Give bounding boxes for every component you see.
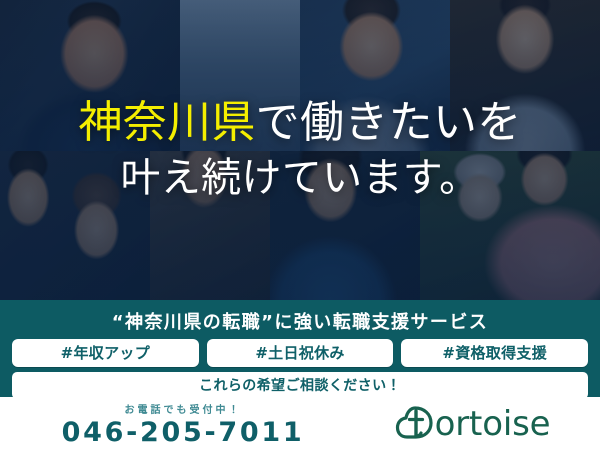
tortoise-shell-t-icon	[394, 402, 438, 447]
photo-driver-man	[0, 0, 180, 151]
photo-collage	[0, 0, 600, 302]
pill-weekend-holiday[interactable]: #土日祝休み	[207, 339, 394, 367]
photo-store-shelf	[180, 0, 300, 151]
photo-factory-woman	[270, 151, 420, 302]
photo-clipboard-woman	[450, 0, 600, 151]
brand-wordmark: ortoise	[435, 404, 551, 444]
telephone-block[interactable]: お電話でも受付中！ 046-205-7011	[0, 401, 358, 448]
pill-salary-up[interactable]: #年収アップ	[12, 339, 199, 367]
photo-caregiver-senior	[420, 151, 600, 302]
photo-phone-woman	[300, 0, 450, 151]
footer: お電話でも受付中！ 046-205-7011 ortoise	[0, 397, 600, 451]
hashtag-pill-group: #年収アップ #土日祝休み #資格取得支援	[0, 334, 600, 367]
band-title: “神奈川県の転職”に強い転職支援サービス	[0, 300, 600, 334]
advertisement-banner: 神奈川県で働きたいを 叶え続けています。 “神奈川県の転職”に強い転職支援サービ…	[0, 0, 600, 451]
consult-cta-bar[interactable]: これらの希望ご相談ください！	[12, 372, 588, 399]
telephone-number[interactable]: 046-205-7011	[8, 417, 358, 448]
service-band: “神奈川県の転職”に強い転職支援サービス #年収アップ #土日祝休み #資格取得…	[0, 300, 600, 397]
brand-logo[interactable]: ortoise	[358, 402, 600, 447]
photo-cleaning-staff	[150, 151, 270, 302]
pill-qualification-support[interactable]: #資格取得支援	[401, 339, 588, 367]
telephone-note: お電話でも受付中！	[8, 401, 358, 416]
photo-office-pair	[0, 151, 150, 302]
